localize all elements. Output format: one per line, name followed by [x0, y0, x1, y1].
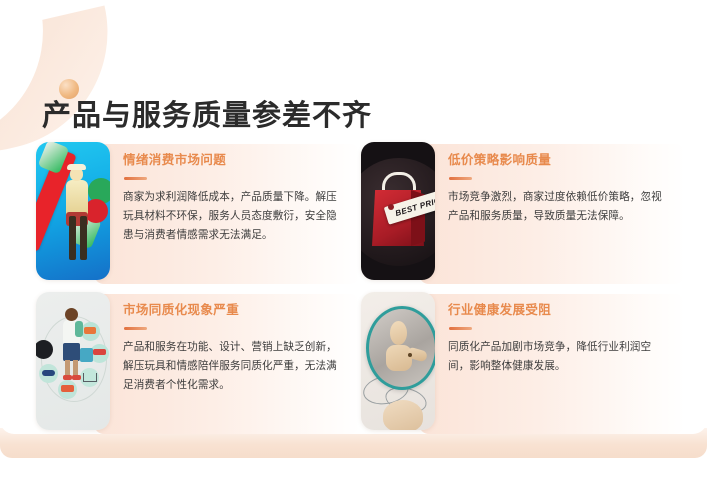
slide-canvas: 产品与服务质量参差不齐 情绪消费市场问题 商家为求利润降低成本，产品质量下降。解… [0, 0, 707, 458]
card-body: 商家为求利润降低成本，产品质量下降。解压玩具材料不环保，服务人员态度敷衍，安全隐… [123, 188, 338, 245]
cards-grid: 情绪消费市场问题 商家为求利润降低成本，产品质量下降。解压玩具材料不环保，服务人… [36, 142, 676, 439]
card-title-rule [449, 177, 472, 180]
card-body: 产品和服务在功能、设计、营销上缺乏创新，解压玩具和情感陪伴服务同质化严重，无法满… [123, 338, 338, 395]
card-title-rule [124, 327, 147, 330]
card-text-block: 行业健康发展受阻 同质化产品加剧市场竞争，降低行业利润空间，影响整体健康发展。 [448, 292, 663, 376]
card-item[interactable]: 情绪消费市场问题 商家为求利润降低成本，产品质量下降。解压玩具材料不环保，服务人… [36, 142, 360, 289]
card-body: 市场竞争激烈，商家过度依赖低价策略，忽视产品和服务质量，导致质量无法保障。 [448, 188, 663, 226]
card-text-block: 市场同质化现象严重 产品和服务在功能、设计、营销上缺乏创新，解压玩具和情感陪伴服… [123, 292, 338, 395]
card-title: 市场同质化现象严重 [123, 303, 338, 318]
page-margin-area [0, 458, 707, 500]
card-text-block: 情绪消费市场问题 商家为求利润降低成本，产品质量下降。解压玩具材料不环保，服务人… [123, 142, 338, 245]
card-item[interactable]: 市场同质化现象严重 产品和服务在功能、设计、营销上缺乏创新，解压玩具和情感陪伴服… [36, 292, 360, 439]
card-body: 同质化产品加剧市场竞争，降低行业利润空间，影响整体健康发展。 [448, 338, 663, 376]
card-title-rule [124, 177, 147, 180]
best-price-shopping-bag-illustration: BEST PRICE [361, 142, 435, 280]
card-title: 低价策略影响质量 [448, 153, 663, 168]
shopper-with-product-icons-illustration [36, 292, 110, 430]
card-text-block: 低价策略影响质量 市场竞争激烈，商家过度依赖低价策略，忽视产品和服务质量，导致质… [448, 142, 663, 226]
figurine-holding-toothbrush-photo [36, 142, 110, 280]
card-title: 情绪消费市场问题 [123, 153, 338, 168]
wooden-mannequin-mirror-photo [361, 292, 435, 430]
card-title: 行业健康发展受阻 [448, 303, 663, 318]
card-item[interactable]: 行业健康发展受阻 同质化产品加剧市场竞争，降低行业利润空间，影响整体健康发展。 [361, 292, 685, 439]
card-title-rule [449, 327, 472, 330]
card-item[interactable]: BEST PRICE 低价策略影响质量 市场竞争激烈，商家过度依赖低价策略，忽视… [361, 142, 685, 289]
page-title: 产品与服务质量参差不齐 [42, 92, 372, 134]
